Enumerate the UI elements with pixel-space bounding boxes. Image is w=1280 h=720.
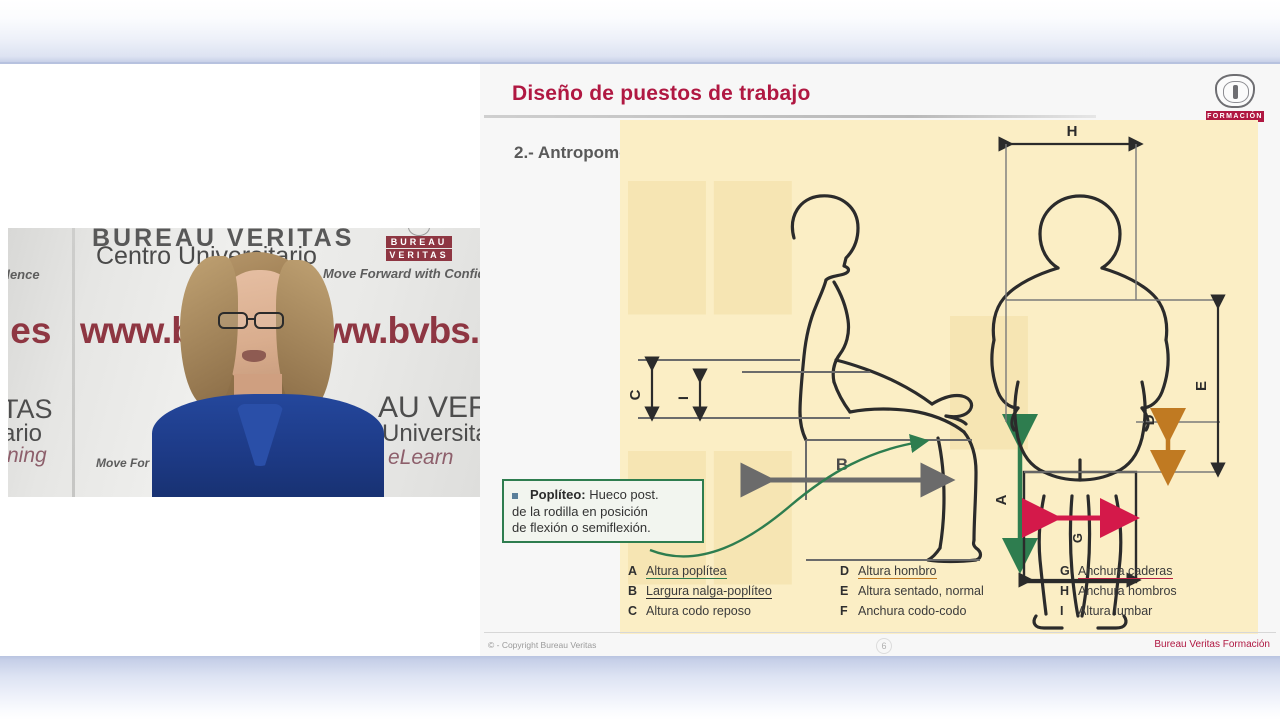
glasses-right-lens — [254, 312, 284, 329]
backdrop-url-es-text: .es — [8, 310, 51, 352]
legend-row: F Anchura codo-codo — [840, 604, 984, 624]
backdrop-elearn-text: eLearn — [388, 446, 453, 470]
backdrop-seam — [72, 228, 75, 497]
bureau-veritas-logo: FORMACIÓN — [1206, 74, 1264, 122]
legend-value: Anchura hombros — [1078, 584, 1177, 598]
backdrop-elearning-partial-text: rning — [8, 444, 47, 468]
legend-value: Altura sentado, normal — [858, 584, 984, 598]
legend-row: G Anchura caderas — [1060, 564, 1177, 584]
legend-key: I — [1060, 604, 1072, 618]
legend-row: D Altura hombro — [840, 564, 984, 584]
backdrop-confidence-partial-text: dence — [8, 267, 40, 282]
hair-left — [180, 256, 238, 406]
figure-label-g: G — [1070, 533, 1085, 543]
seal-figure — [1233, 85, 1238, 99]
legend-row: B Largura nalga-poplíteo — [628, 584, 772, 604]
legend-value: Altura lumbar — [1078, 604, 1152, 618]
legend-key: B — [628, 584, 640, 598]
callout-term: Poplíteo: — [530, 487, 586, 502]
glasses-bridge — [248, 318, 256, 320]
legend-key: A — [628, 564, 640, 578]
seal-icon — [1215, 74, 1255, 108]
legend-row: A Altura poplítea — [628, 564, 772, 584]
legend-row: H Anchura hombros — [1060, 584, 1177, 604]
page-number: 6 — [876, 638, 892, 654]
legend-column-3: G Anchura caderas H Anchura hombros I Al… — [1060, 564, 1177, 624]
legend-row: C Altura codo reposo — [628, 604, 772, 624]
footer-brand: Bureau Veritas Formación — [1154, 639, 1270, 650]
legend-key: D — [840, 564, 852, 578]
legend-row: E Altura sentado, normal — [840, 584, 984, 604]
backdrop-bureau-veritas-logo: BUREAU VERITAS — [386, 228, 452, 262]
legend-column-1: A Altura poplítea B Largura nalga-poplít… — [628, 564, 772, 624]
legend-value: Altura hombro — [858, 564, 937, 579]
legend-value: Anchura caderas — [1078, 564, 1173, 579]
presenter-video[interactable]: BUREAU VERITAS Centro Universitario eLea… — [8, 228, 480, 497]
legend-key: F — [840, 604, 852, 618]
backdrop-universitario-text: Universita — [382, 420, 480, 448]
footer-copyright: © - Copyright Bureau Veritas — [488, 640, 596, 650]
callout-text-3: de flexión o semiflexión. — [512, 520, 694, 537]
legend-key: G — [1060, 564, 1072, 578]
anthropometry-figure: ██ ██ █ — [620, 120, 1258, 634]
legend-row: I Altura lumbar — [1060, 604, 1177, 624]
callout-text-2: de la rodilla en posición — [512, 504, 694, 521]
page-title: Diseño de puestos de trabajo — [512, 82, 811, 106]
title-divider — [484, 115, 1096, 118]
figure-label-d: D — [1141, 414, 1158, 425]
callout-line-1: Poplíteo: Hueco post. — [512, 487, 694, 504]
measurement-legend: A Altura poplítea B Largura nalga-poplít… — [628, 564, 1254, 630]
mouth — [242, 350, 266, 362]
logo-bureau-text: BUREAU — [386, 236, 452, 248]
legend-key: C — [628, 604, 640, 618]
screen-root: BUREAU VERITAS Centro Universitario eLea… — [0, 0, 1280, 720]
glasses-left-lens — [218, 312, 248, 329]
backdrop-move-for-text: Move For — [96, 456, 149, 470]
anthropometry-drawing: C I B A — [620, 120, 1258, 634]
hair-right — [276, 260, 334, 412]
slide-panel: Diseño de puestos de trabajo 2.- Antropo… — [480, 64, 1280, 656]
popliteo-callout: Poplíteo: Hueco post. de la rodilla en p… — [502, 479, 704, 543]
figure-label-h: H — [1067, 123, 1078, 140]
legend-key: H — [1060, 584, 1072, 598]
top-gradient-band — [0, 0, 1280, 64]
legend-value: Altura codo reposo — [646, 604, 751, 618]
legend-value: Altura poplítea — [646, 564, 727, 579]
legend-column-2: D Altura hombro E Altura sentado, normal… — [840, 564, 984, 624]
seal-icon — [408, 228, 430, 236]
figure-label-e: E — [1193, 381, 1210, 391]
figure-label-i: I — [675, 396, 691, 400]
bottom-gradient-band — [0, 656, 1280, 720]
bullet-icon — [512, 493, 518, 499]
figure-label-a: A — [993, 494, 1010, 505]
logo-veritas-text: VERITAS — [386, 249, 452, 261]
legend-key: E — [840, 584, 852, 598]
legend-value: Largura nalga-poplíteo — [646, 584, 772, 599]
presenter-figure — [158, 246, 378, 497]
callout-text-1: Hueco post. — [589, 487, 658, 502]
figure-label-c: C — [627, 389, 644, 400]
legend-value: Anchura codo-codo — [858, 604, 966, 618]
footer-divider — [484, 632, 1276, 633]
